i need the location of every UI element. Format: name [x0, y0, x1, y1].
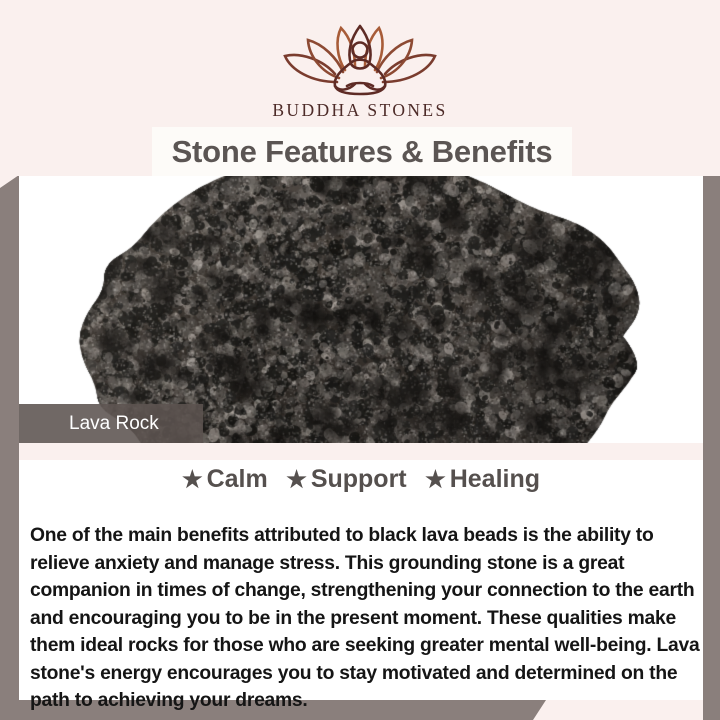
star-icon: ★: [182, 466, 203, 492]
benefit-label-2: Healing: [450, 465, 540, 493]
star-icon: ★: [425, 466, 446, 492]
infographic-card: BUDDHA STONES Stone Features & Benefits …: [0, 0, 720, 720]
star-icon: ★: [286, 466, 307, 492]
page-title: Stone Features & Benefits: [172, 134, 553, 170]
frame-bar-left: [0, 175, 19, 720]
photo-caption-label: Lava Rock: [19, 413, 159, 435]
photo-caption-bar: Lava Rock: [19, 404, 203, 443]
lava-rock-image: [19, 176, 703, 443]
benefit-item-1: ★Support: [286, 465, 406, 494]
benefit-label-0: Calm: [207, 465, 268, 493]
benefit-label-1: Support: [311, 465, 407, 493]
lava-rock-photo: [19, 176, 703, 443]
brand-name: BUDDHA STONES: [0, 100, 720, 121]
benefit-item-2: ★Healing: [425, 465, 540, 494]
photo-divider: [19, 443, 703, 460]
brand-logo: BUDDHA STONES: [0, 20, 720, 121]
benefits-row: ★Calm ★Support ★Healing: [19, 465, 703, 494]
description-paragraph: One of the main benefits attributed to b…: [30, 522, 710, 715]
section-title-band: Stone Features & Benefits: [152, 127, 572, 176]
benefit-item-0: ★Calm: [182, 465, 268, 494]
lotus-meditation-icon: [275, 20, 445, 98]
